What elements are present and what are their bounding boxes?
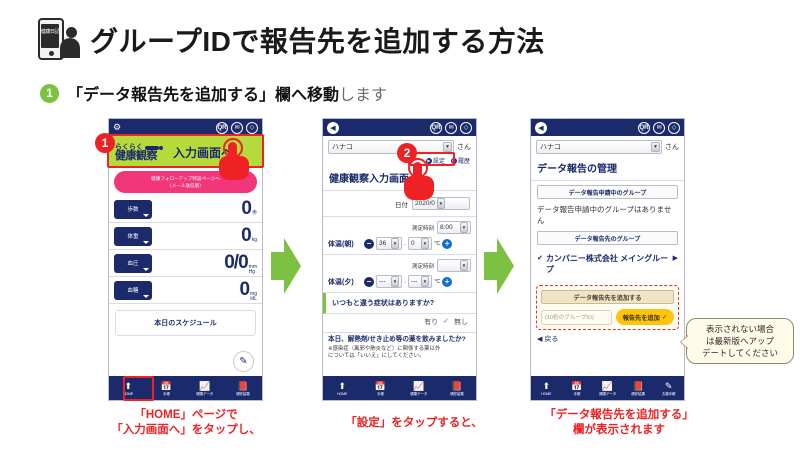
nav-item-health-data[interactable]: 📈 健康データ xyxy=(186,381,224,396)
metric-tag[interactable]: 血糖 xyxy=(114,281,152,300)
step-number-badge: 1 xyxy=(40,84,59,103)
phone2-topbar: ◀ QR ✉ ◇ xyxy=(323,119,476,136)
phone3-bottom-nav: ⬆ HOME 📅 手帳 📈 健康データ 📕 健診結果 ✎ お薬手帳 xyxy=(531,376,684,400)
pencil-icon: ✎ xyxy=(665,381,673,391)
nav-label: 健診結果 xyxy=(236,392,250,396)
caption-3-line-1: 「データ報告先を追加する」 xyxy=(500,408,738,423)
rakuraku-logo: らくらく 健康観察 xyxy=(115,143,159,161)
home-icon: ⬆ xyxy=(543,381,551,391)
nav-label: 健診結果 xyxy=(631,392,645,396)
nav-item-home[interactable]: ⬆ HOME xyxy=(109,381,147,396)
caption-1-line-2: 「入力画面へ」をタップし、 xyxy=(72,423,300,438)
nav-label: 健診結果 xyxy=(450,392,464,396)
decrement-button[interactable]: − xyxy=(364,239,374,249)
nav-item-medicine-notebook[interactable]: ✎ お薬手帳 xyxy=(653,381,684,396)
temp-unit: ℃ xyxy=(434,241,440,247)
callout-line-2: は最新版へアップ xyxy=(692,335,788,347)
phone3-topbar: ◀ QR ✉ ◇ xyxy=(531,119,684,136)
back-circle-icon: ◀ xyxy=(537,335,542,343)
nav-item-checkup[interactable]: 📕 健診結果 xyxy=(438,381,476,396)
metric-value: 0/0 xyxy=(224,252,247,274)
list-item[interactable]: ✔ カンパニー株式会社 メイングループ ▶ xyxy=(531,249,684,279)
user-name-value: ハナコ xyxy=(332,142,353,152)
chevron-down-icon[interactable]: ▼ xyxy=(391,238,399,249)
phone2-page-title: 健康観察入力画面 xyxy=(323,166,476,191)
temp-int-value: 36 xyxy=(379,240,386,247)
section-header-reported: データ報告先のグループ xyxy=(537,231,678,245)
caption-2: 「設定」をタップすると、 xyxy=(300,416,528,431)
temp-dec-value: 0 xyxy=(411,240,415,247)
nav-item-home[interactable]: ⬆ HOME xyxy=(531,381,562,396)
note-line-1: ※感染症（風邪や肺炎など）に関係する薬以外 xyxy=(328,346,440,352)
table-row[interactable]: 体重 0 kg xyxy=(109,223,262,250)
nav-label: HOME xyxy=(123,392,133,396)
nav-item-notebook[interactable]: 📅 手帳 xyxy=(562,381,593,396)
icon-screen-text: 健康日記 xyxy=(41,24,59,48)
user-name-value: ハナコ xyxy=(540,142,561,152)
notebook-icon: 📅 xyxy=(375,381,386,391)
caption-1: 「HOME」ページで 「入力画面へ」をタップし、 xyxy=(72,408,300,438)
chevron-down-icon[interactable]: ▼ xyxy=(460,222,468,233)
nav-label: 健康データ xyxy=(599,392,616,396)
phone3-page-title: データ報告の管理 xyxy=(531,156,684,181)
metric-value: 0 xyxy=(241,198,251,220)
temp-int-value: --- xyxy=(379,278,386,285)
mail-icon[interactable]: ✉ xyxy=(653,122,665,134)
measure-time-input[interactable]: ▼ xyxy=(437,259,471,272)
chart-icon: 📈 xyxy=(602,381,613,391)
back-arrow-icon[interactable]: ◀ xyxy=(535,122,547,134)
chevron-down-icon[interactable]: ▼ xyxy=(443,142,452,152)
window-icon[interactable]: ◇ xyxy=(668,122,680,134)
home-icon: ⬆ xyxy=(338,381,346,391)
add-destination-box: データ報告先を追加する (10桁のグループID) 報告先を追加 ✓ xyxy=(536,285,679,330)
chevron-down-icon[interactable]: ▼ xyxy=(651,142,660,152)
followup-banner-line1: 健康フォローアップ特設ページへ xyxy=(151,175,220,182)
metric-tag[interactable]: 体重 xyxy=(114,227,152,246)
temp-dec-input[interactable]: 0 ▼ xyxy=(408,237,432,250)
user-name-suffix: さん xyxy=(457,142,471,152)
step-text-light: します xyxy=(339,87,387,104)
check-icon: ✓ xyxy=(443,317,449,327)
window-icon[interactable]: ◇ xyxy=(460,122,472,134)
answer-row-1: 有り ✓ 無し xyxy=(323,314,476,333)
nav-label: HOME xyxy=(337,392,347,396)
group-id-input[interactable]: (10桁のグループID) xyxy=(541,310,612,325)
notebook-icon: 📅 xyxy=(161,381,172,391)
followup-banner-line2: （メール送信版） xyxy=(167,182,204,189)
nav-label: 手帳 xyxy=(573,392,580,396)
nav-label: HOME xyxy=(541,392,551,396)
marker-2: 2 xyxy=(397,143,417,163)
phone2-bottom-nav: ⬆ HOME 📅 手帳 📈 健康データ 📕 健診結果 xyxy=(323,376,476,400)
caption-3-line-2: 欄が表示されます xyxy=(500,423,738,438)
nav-label: お薬手帳 xyxy=(662,392,676,396)
back-arrow-icon[interactable]: ◀ xyxy=(327,122,339,134)
nav-item-home[interactable]: ⬆ HOME xyxy=(323,381,361,396)
temp-dec-input[interactable]: --- ▼ xyxy=(408,275,432,288)
qr-icon[interactable]: QR xyxy=(430,122,442,134)
callout-line-3: デートしてください xyxy=(692,347,788,359)
chevron-down-icon[interactable]: ▼ xyxy=(421,238,429,249)
check-icon: ✓ xyxy=(662,314,667,321)
phone1-bottom-nav: ⬆ HOME 📅 手帳 📈 健康データ 📕 健診結果 xyxy=(109,376,262,400)
pending-empty-text: データ報告申請中のグループはありません xyxy=(531,203,684,227)
question-2-block: 本日、解熱剤/せき止め等の薬を飲みましたか? ※感染症（風邪や肺炎など）に関係す… xyxy=(323,333,476,364)
temp-unit: ℃ xyxy=(434,279,440,285)
table-row[interactable]: 血圧 0/0 mm Hg xyxy=(109,250,262,277)
book-icon: 📕 xyxy=(632,381,643,391)
measure-time-label: 測定時刻 xyxy=(412,224,434,232)
phone1-topbar: ⚙ QR ✉ ◇ xyxy=(109,119,262,136)
home-icon: ⬆ xyxy=(124,381,132,391)
nav-label: 手帳 xyxy=(163,392,170,396)
metric-unit: 歩 xyxy=(252,210,257,216)
add-destination-button-label: 報告先を追加 xyxy=(623,313,660,322)
answer-yes[interactable]: 有り xyxy=(424,317,438,327)
temp-int-input[interactable]: --- ▼ xyxy=(376,275,402,288)
tap-hand-icon-1 xyxy=(219,138,251,182)
qr-icon[interactable]: QR xyxy=(638,122,650,134)
table-row[interactable]: 血糖 0 mg /dL xyxy=(109,277,262,304)
nav-label: 健康データ xyxy=(196,392,213,396)
chevron-right-icon[interactable]: ▶ xyxy=(673,253,678,264)
nav-item-notebook[interactable]: 📅 手帳 xyxy=(147,381,185,396)
temp-int-input[interactable]: 36 ▼ xyxy=(376,237,402,250)
add-destination-title: データ報告先を追加する xyxy=(541,290,674,304)
arrow-1 xyxy=(271,238,301,294)
answer-no[interactable]: 無し xyxy=(454,317,468,327)
phone-screenshot-3: ◀ QR ✉ ◇ ハナコ ▼ さん データ報告の管理 データ報告申請中のグループ… xyxy=(530,118,685,401)
qr-icon[interactable]: QR xyxy=(216,122,228,134)
marker-1: 1 xyxy=(95,133,115,153)
nav-item-notebook[interactable]: 📅 手帳 xyxy=(361,381,399,396)
increment-button[interactable]: + xyxy=(442,277,452,287)
note-line-2: については「いいえ」にしてください。 xyxy=(328,353,424,359)
callout-line-1: 表示されない場合 xyxy=(692,323,788,335)
temperature-morning-label: 体温(朝) xyxy=(328,239,362,249)
metric-unit-bottom: Hg xyxy=(249,270,257,275)
mail-icon[interactable]: ✉ xyxy=(231,122,243,134)
settings-gear-icon[interactable]: ⚙ xyxy=(113,123,121,132)
decimal-point: . xyxy=(404,278,406,285)
nav-item-checkup[interactable]: 📕 健診結果 xyxy=(224,381,262,396)
back-link[interactable]: ◀ 戻る xyxy=(531,330,684,348)
step-text-bold: 「データ報告先を追加する」欄へ移動 xyxy=(67,87,339,104)
history-link[interactable]: ▶履歴 xyxy=(451,156,470,165)
user-select[interactable]: ハナコ ▼ xyxy=(328,140,454,154)
history-link-label: 履歴 xyxy=(458,156,470,165)
phone3-user-select-row: ハナコ ▼ さん xyxy=(536,140,679,154)
update-callout: 表示されない場合 は最新版へアップ デートしてください xyxy=(686,318,794,364)
caption-3: 「データ報告先を追加する」 欄が表示されます xyxy=(500,408,738,438)
caption-1-line-1: 「HOME」ページで xyxy=(72,408,300,423)
metric-value: 0 xyxy=(241,225,251,247)
mail-icon[interactable]: ✉ xyxy=(445,122,457,134)
today-schedule-button[interactable]: 本日のスケジュール xyxy=(115,310,256,336)
check-circle-icon: ✔ xyxy=(537,253,543,264)
measure-time-label: 測定時刻 xyxy=(412,262,434,270)
page-title: グループIDで報告先を追加する方法 xyxy=(90,20,545,60)
chart-icon: 📈 xyxy=(413,381,424,391)
metric-tag[interactable]: 歩数 xyxy=(114,200,152,219)
increment-button[interactable]: + xyxy=(442,239,452,249)
book-icon: 📕 xyxy=(451,381,462,391)
chevron-down-icon[interactable]: ▼ xyxy=(437,198,445,209)
metric-value: 0 xyxy=(239,279,249,301)
metric-unit-bottom: /dL xyxy=(250,297,257,302)
chevron-down-icon[interactable]: ▼ xyxy=(421,276,429,287)
nav-item-checkup[interactable]: 📕 健診結果 xyxy=(623,381,654,396)
nav-item-health-data[interactable]: 📈 健康データ xyxy=(592,381,623,396)
temperature-evening-row: 測定時刻 ▼ 体温(夕) − --- ▼ . --- ▼ ℃ + xyxy=(323,255,476,293)
date-row: 日付 2020/0 ▼ xyxy=(323,191,476,217)
chevron-down-icon[interactable]: ▼ xyxy=(460,260,468,271)
group-name: カンパニー株式会社 メイングループ xyxy=(546,253,670,275)
temperature-morning-row: 測定時刻 8:00 ▼ 体温(朝) − 36 ▼ . 0 ▼ ℃ + xyxy=(323,217,476,255)
notebook-icon: 📅 xyxy=(571,381,582,391)
caption-2-line-1: 「設定」をタップすると、 xyxy=(300,416,528,431)
add-destination-button[interactable]: 報告先を追加 ✓ xyxy=(616,309,674,325)
measure-time-value: 8:00 xyxy=(440,224,453,231)
pencil-icon[interactable]: ✎ xyxy=(233,351,254,372)
chevron-down-icon[interactable]: ▼ xyxy=(391,276,399,287)
user-name-suffix: さん xyxy=(665,142,679,152)
decimal-point: . xyxy=(404,240,406,247)
logo-big-text: 健康観察 xyxy=(115,152,159,161)
question-2: 本日、解熱剤/せき止め等の薬を飲みましたか? xyxy=(328,336,471,344)
book-icon: 📕 xyxy=(237,381,248,391)
arrow-2 xyxy=(484,238,514,294)
question-1: いつもと違う症状はありますか? xyxy=(323,293,476,314)
metric-unit: kg xyxy=(252,237,257,243)
step-line: 1 「データ報告先を追加する」欄へ移動します xyxy=(40,81,387,105)
table-row[interactable]: 歩数 0 歩 xyxy=(109,196,262,223)
temp-dec-value: --- xyxy=(411,278,418,285)
page-header: 健康日記 グループIDで報告先を追加する方法 xyxy=(38,18,545,62)
temperature-evening-label: 体温(夕) xyxy=(328,277,362,287)
measure-time-input[interactable]: 8:00 ▼ xyxy=(437,221,471,234)
back-link-label: 戻る xyxy=(544,334,558,344)
window-icon[interactable]: ◇ xyxy=(246,122,258,134)
metric-tag[interactable]: 血圧 xyxy=(114,254,152,273)
step-text: 「データ報告先を追加する」欄へ移動します xyxy=(67,81,387,105)
phone-person-icon: 健康日記 xyxy=(38,18,78,62)
section-header-pending: データ報告申請中のグループ xyxy=(537,185,678,199)
user-select[interactable]: ハナコ ▼ xyxy=(536,140,662,154)
chart-icon: 📈 xyxy=(199,381,210,391)
decrement-button[interactable]: − xyxy=(364,277,374,287)
nav-item-health-data[interactable]: 📈 健康データ xyxy=(400,381,438,396)
nav-label: 手帳 xyxy=(377,392,384,396)
nav-label: 健康データ xyxy=(410,392,427,396)
tap-hand-icon-2 xyxy=(404,158,436,202)
